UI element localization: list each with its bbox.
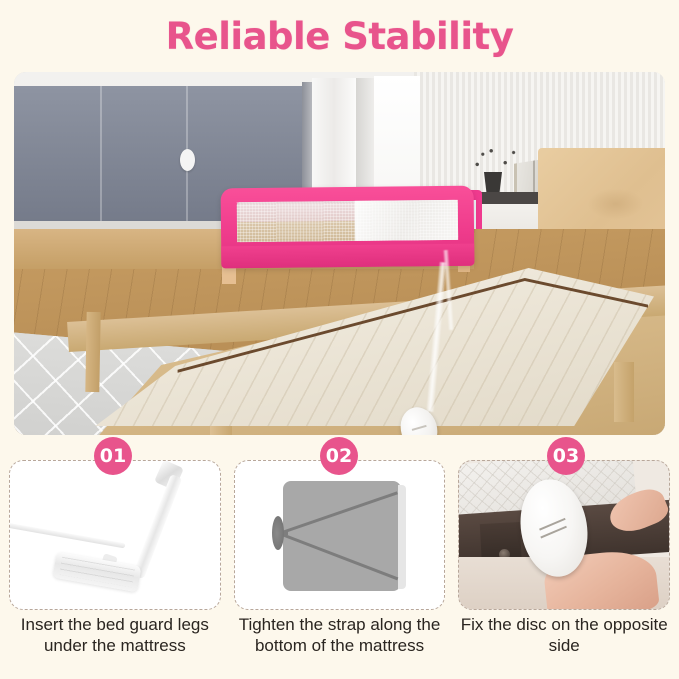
step-caption-03: Fix the disc on the opposite side — [458, 615, 670, 656]
bed-leg — [614, 362, 634, 422]
guard-leg-post — [132, 474, 182, 579]
step-card-03 — [458, 460, 670, 610]
wardrobe-handle-icon — [180, 149, 195, 171]
step-caption-01: Insert the bed guard legs under the matt… — [9, 615, 221, 656]
mattress-side-diagram — [398, 485, 406, 589]
step-cards — [9, 460, 670, 610]
step-captions: Insert the bed guard legs under the matt… — [9, 615, 670, 656]
step-caption-02: Tighten the strap along the bottom of th… — [234, 615, 446, 656]
step-badge-02: 02 — [320, 437, 358, 475]
wardrobe-seam — [100, 86, 102, 221]
hero-product-photo — [14, 72, 665, 435]
step-badge-01: 01 — [94, 437, 132, 475]
guard-leg-base-plate — [52, 552, 141, 593]
guard-leg-arm — [9, 523, 126, 549]
header: Reliable Stability — [0, 0, 679, 72]
mesh-texture — [237, 200, 458, 242]
bed-leg — [85, 312, 100, 392]
guard-rail-mesh-window — [237, 200, 458, 242]
step-badge-03: 03 — [547, 437, 585, 475]
step-card-02 — [234, 460, 446, 610]
bed-guard-rail — [221, 186, 475, 269]
step-card-01 — [9, 460, 221, 610]
guard-rail-bottom-bar — [221, 244, 474, 269]
page-title: Reliable Stability — [166, 15, 514, 58]
disc-icon — [272, 516, 284, 550]
